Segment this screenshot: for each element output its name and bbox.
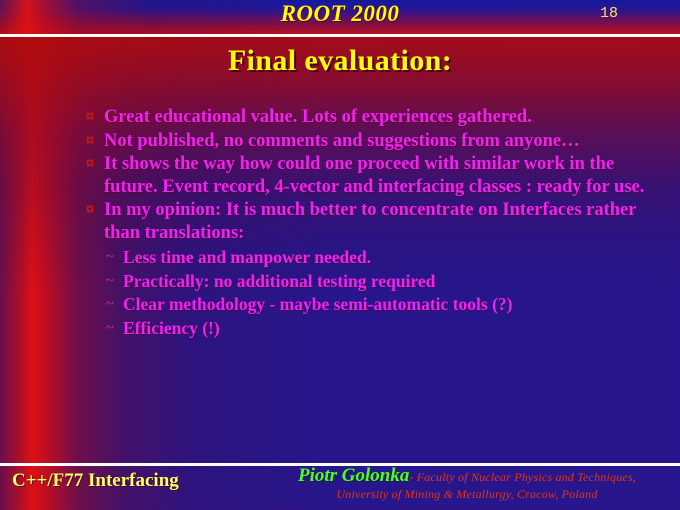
header-divider-rule <box>0 34 680 37</box>
bullet-marker-icon: ¤ <box>86 199 104 221</box>
sub-bullet-text: Practically: no additional testing requi… <box>123 270 666 293</box>
bullet-text: Great educational value. Lots of experie… <box>104 106 666 129</box>
sub-bullet-list: ~ Less time and manpower needed. ~ Pract… <box>106 246 666 339</box>
sub-bullet-marker-icon: ~ <box>106 293 123 315</box>
sub-bullet-text: Efficiency (!) <box>123 317 666 340</box>
bullet-text: Not published, no comments and suggestio… <box>104 130 666 153</box>
footer-divider-rule <box>0 463 680 466</box>
sub-list-item: ~ Practically: no additional testing req… <box>106 270 666 293</box>
footer-talk-title: C++/F77 Interfacing <box>12 470 179 492</box>
presentation-slide: ROOT 2000 18 Final evaluation: ¤ Great e… <box>0 0 680 510</box>
list-item: ¤ In my opinion: It is much better to co… <box>86 199 666 244</box>
bullet-list: ¤ Great educational value. Lots of exper… <box>86 106 666 340</box>
bullet-marker-icon: ¤ <box>86 153 104 175</box>
list-item: ¤ Not published, no comments and suggest… <box>86 130 666 153</box>
page-number: 18 <box>600 5 618 22</box>
bullet-marker-icon: ¤ <box>86 106 104 128</box>
list-item: ¤ Great educational value. Lots of exper… <box>86 106 666 129</box>
bullet-text: It shows the way how could one proceed w… <box>104 153 666 198</box>
footer-author-name: Piotr Golonka <box>298 465 409 486</box>
sub-bullet-text: Clear methodology - maybe semi-automatic… <box>123 293 666 316</box>
sub-list-item: ~ Clear methodology - maybe semi-automat… <box>106 293 666 316</box>
list-item: ¤ It shows the way how could one proceed… <box>86 153 666 198</box>
conference-title: ROOT 2000 <box>0 1 680 27</box>
footer-author-block: Piotr Golonka- Faculty of Nuclear Physic… <box>262 468 672 502</box>
sub-list-item: ~ Less time and manpower needed. <box>106 246 666 269</box>
sub-list-item: ~ Efficiency (!) <box>106 317 666 340</box>
footer-affiliation-line-2: University of Mining & Metallurgy, Craco… <box>262 486 672 502</box>
sub-bullet-marker-icon: ~ <box>106 270 123 292</box>
bullet-marker-icon: ¤ <box>86 130 104 152</box>
bullet-text: In my opinion: It is much better to conc… <box>104 199 666 244</box>
sub-bullet-marker-icon: ~ <box>106 246 123 268</box>
sub-bullet-text: Less time and manpower needed. <box>123 246 666 269</box>
footer-affiliation-line-1: - Faculty of Nuclear Physics and Techniq… <box>409 470 636 484</box>
slide-title: Final evaluation: <box>0 44 680 78</box>
sub-bullet-marker-icon: ~ <box>106 317 123 339</box>
footer: C++/F77 Interfacing Piotr Golonka- Facul… <box>0 466 680 510</box>
